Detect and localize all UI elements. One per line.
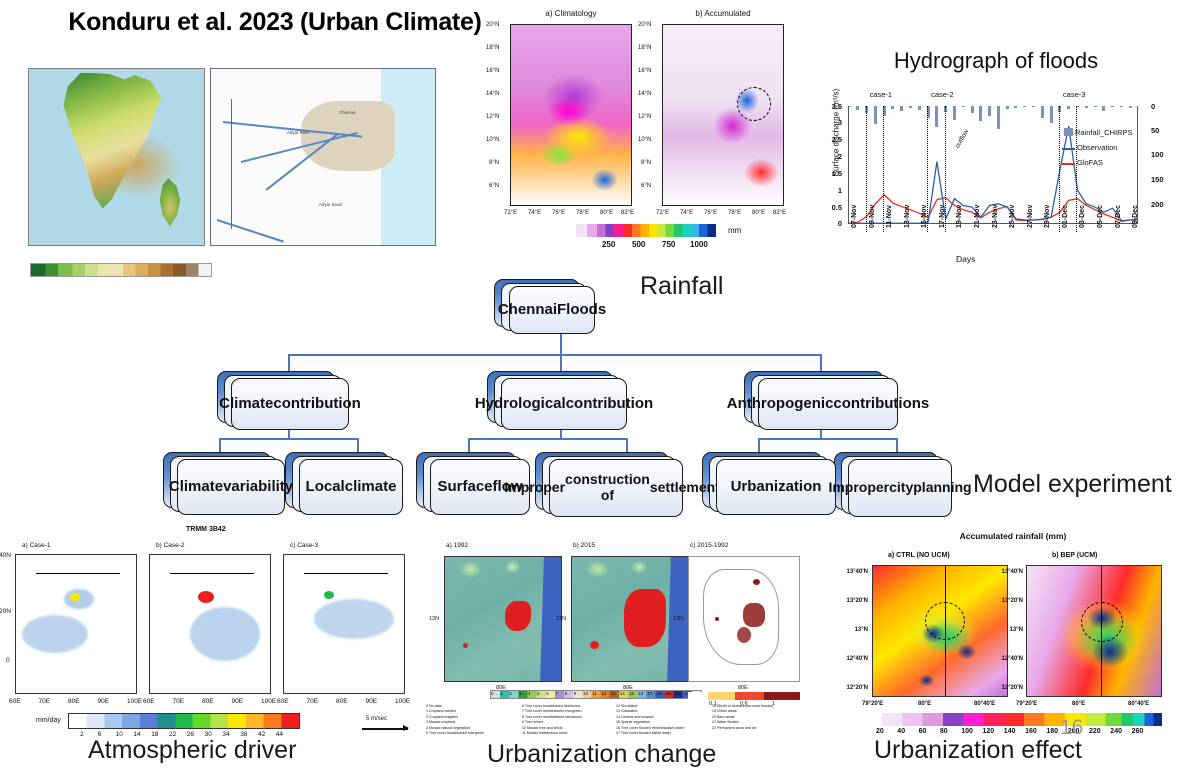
rainfall-colorbar xyxy=(576,224,716,237)
atm-xtick: 100E xyxy=(395,698,410,705)
ue-colorbar-tick: 80 xyxy=(940,728,948,735)
hydrograph-xtick: 09-Dec xyxy=(1132,205,1139,228)
atm-map-case2 xyxy=(149,554,271,694)
slide-number: 16 xyxy=(1060,716,1083,740)
landcover-class-number: 0 xyxy=(491,691,494,696)
atm-map-case1 xyxy=(15,554,137,694)
landcover-class-number: 8 xyxy=(565,691,568,696)
hydrograph-block: Hydrograph of floods Surface discharge (… xyxy=(806,48,1186,268)
basin-label-adyar-river: Adyar River xyxy=(287,130,310,135)
urb-ytick: 13N xyxy=(556,616,566,622)
flow-label-line: Chennai xyxy=(498,302,557,319)
change-cluster xyxy=(737,627,751,643)
hydrograph-ytick: 2 xyxy=(820,152,842,161)
flow-box-improper-construction[interactable]: Improperconstruction ofsettlements xyxy=(549,459,683,517)
landcover-class-number: 15 xyxy=(629,691,634,696)
ue-xtick: 80°40'E xyxy=(1128,701,1149,707)
landcover-class-number: 3 xyxy=(519,691,522,696)
hydrograph-xtick: 07-Nov xyxy=(851,205,858,228)
urban-extent-1992 xyxy=(463,643,468,648)
urb-panel-b-title: b) 2015 xyxy=(573,542,595,549)
legend-label-glofas: GloFAS xyxy=(1077,158,1103,167)
flow-label-line: Improper xyxy=(504,480,565,496)
ue-ytick: 12°40'N xyxy=(828,656,868,662)
landcover-class-number: 2 xyxy=(509,691,512,696)
urb-ytick: 13N xyxy=(429,616,439,622)
atm-panel-a-title: a) Case-1 xyxy=(22,542,51,549)
rainfall-ytick: 18°N xyxy=(638,45,651,51)
landcover-legend-entry: 22 Permanent snow and ice xyxy=(712,726,773,731)
ue-colorbar-tick: 100 xyxy=(961,728,973,735)
atm-xtick: 100E xyxy=(261,698,276,705)
atmospheric-driver-block: TRMM 3B42 a) Case-1 b) Case-2 c) Case-3 … xyxy=(0,530,420,768)
landcover-class-number: 14 xyxy=(620,691,625,696)
ue-xtick: 80°40'E xyxy=(974,701,995,707)
ue-ytick: 12°20'N xyxy=(983,685,1023,691)
case-marker-line xyxy=(1059,106,1060,232)
precip-blob xyxy=(314,599,394,639)
atm-colorbar-tick: 18 xyxy=(151,731,158,738)
urban-extent-2015 xyxy=(590,641,599,649)
atm-xtick: 80E xyxy=(202,698,214,705)
rainfall-ytick: 6°N xyxy=(489,183,499,189)
connector-vertical xyxy=(896,438,898,452)
connector-vertical xyxy=(357,438,359,452)
legend-label-rainfall: Rainfall_CHIRPS xyxy=(1075,128,1133,137)
landcover-class-number: 19 xyxy=(666,691,671,696)
flow-label-line: contribution xyxy=(566,396,653,413)
rainfall-panel-a-title: a) Climatology xyxy=(510,9,632,18)
flow-label-line: Urbanization xyxy=(731,479,822,496)
atm-colorbar-tick: 26 xyxy=(187,731,194,738)
flow-label-line: Surface xyxy=(437,479,492,496)
rainfall-accumulated-map xyxy=(662,24,784,206)
urb-xtick: 80E xyxy=(738,685,748,691)
atm-ytick: 20N xyxy=(0,608,11,615)
rainfall-ytick: 6°N xyxy=(641,183,651,189)
connector-horizontal xyxy=(219,438,359,440)
landcover-legend-entry: 5 Tree cover broadleaved evergreen xyxy=(426,731,484,736)
hydrograph-xtick: 07-Dec xyxy=(1115,205,1122,228)
caption-model-experiment: Model experiment xyxy=(973,470,1172,499)
ue-colorbar-tick: 260 xyxy=(1132,728,1144,735)
case-marker-line xyxy=(1076,106,1077,232)
rainfall-xtick: 76°E xyxy=(552,210,565,216)
basin-boundary xyxy=(231,99,232,229)
ue-colorbar-tick: 120 xyxy=(983,728,995,735)
adyar-basin-map: Chennai Adyar River Adyar basin xyxy=(210,68,436,246)
flow-label-line: Local xyxy=(306,479,345,496)
hydrograph-y2tick: 50 xyxy=(1151,126,1159,135)
landcover-class-number: 1 xyxy=(500,691,503,696)
precip-core xyxy=(70,593,80,601)
ue-xtick: 80°E xyxy=(918,701,931,707)
urban-extent-1992 xyxy=(505,601,531,631)
rainfall-colorbar-tick: 500 xyxy=(632,240,645,249)
flow-label-line: climate xyxy=(345,479,397,496)
atm-xtick: 60E xyxy=(9,698,21,705)
landcover-legend-entry: 11 Mosaic herbaceous cover xyxy=(522,731,582,736)
connector-vertical xyxy=(468,438,470,452)
flow-box-urbanization[interactable]: Urbanization xyxy=(716,459,836,515)
landcover-legend-column: 12 Shrubland13 Grassland14 Lichens and m… xyxy=(616,704,684,737)
hydrograph-xtick: 19-Nov xyxy=(956,205,963,228)
caption-rainfall: Rainfall xyxy=(640,272,723,301)
ue-colorbar-tick: 220 xyxy=(1089,728,1101,735)
atm-xtick: 60E xyxy=(277,698,289,705)
flow-box-improper-city-planning[interactable]: Impropercityplanning xyxy=(848,459,952,517)
atm-xtick: 70E xyxy=(39,698,51,705)
landcover-legend-column: 18 Shrub or herbaceous cover flooded19 U… xyxy=(712,704,773,731)
rainfall-ytick: 14°N xyxy=(638,91,651,97)
hydrograph-xtick: 13-Nov xyxy=(904,205,911,228)
landcover-class-number: 4 xyxy=(528,691,531,696)
landcover-map-2015 xyxy=(571,556,689,682)
landcover-class-number: 9 xyxy=(574,691,577,696)
ue-ytick: 13°40'N xyxy=(983,569,1023,575)
atm-xtick: 90E xyxy=(98,698,110,705)
rainfall-xtick: 74°E xyxy=(528,210,541,216)
rainfall-xtick: 74°E xyxy=(680,210,693,216)
landcover-class-number: 10 xyxy=(583,691,588,696)
rainfall-ytick: 8°N xyxy=(641,160,651,166)
atm-map-case3 xyxy=(283,554,405,694)
rainfall-ytick: 20°N xyxy=(486,22,499,28)
rainfall-ytick: 16°N xyxy=(638,68,651,74)
terrain-island-srilanka xyxy=(155,178,185,227)
flow-label-line: Floods xyxy=(557,302,606,319)
landcover-legend-column: 6 Tree cover broadleaved deciduous7 Tree… xyxy=(522,704,582,737)
atm-xtick: 60E xyxy=(143,698,155,705)
rainfall-xtick: 80°E xyxy=(752,210,765,216)
hydrograph-title: Hydrograph of floods xyxy=(806,48,1186,74)
landcover-class-number: 11 xyxy=(592,691,597,696)
flow-label-line: Hydrological xyxy=(475,396,566,413)
change-cluster xyxy=(743,603,765,627)
atm-colorbar-tick: 30 xyxy=(205,731,212,738)
ue-ytick: 13°20'N xyxy=(983,598,1023,604)
hydrograph-xtick: 05-Dec xyxy=(1097,205,1104,228)
atm-colorbar-unit: mm/day xyxy=(36,717,61,724)
atm-colorbar-tick: 34 xyxy=(222,731,229,738)
hydrograph-xtick: 17-Nov xyxy=(939,205,946,228)
atm-xtick: 80E xyxy=(68,698,80,705)
case-marker-label: case-3 xyxy=(1063,90,1086,99)
rainfall-ytick: 10°N xyxy=(486,137,499,143)
ue-ytick: 12°40'N xyxy=(983,656,1023,662)
hydrograph-xtick: 01-Dec xyxy=(1062,205,1069,228)
ue-colorbar-tick: 140 xyxy=(1004,728,1016,735)
hydrograph-ytick: 1.5 xyxy=(820,169,842,178)
landcover-class-number: 6 xyxy=(546,691,549,696)
rainfall-ytick: 14°N xyxy=(486,91,499,97)
landcover-class-number: 5 xyxy=(537,691,540,696)
rainfall-xtick: 72°E xyxy=(656,210,669,216)
urban-extent-2015 xyxy=(624,589,666,647)
flow-label-line: construction of xyxy=(565,472,650,503)
rainfall-ytick: 12°N xyxy=(638,114,651,120)
urbanization-effect-block: Accumulated rainfall (mm) a) CTRL (NO UC… xyxy=(840,525,1186,768)
hydrograph-y2tick: 100 xyxy=(1151,150,1164,159)
atm-ytick: 40N xyxy=(0,552,11,559)
ue-colorbar-tick: 40 xyxy=(897,728,905,735)
legend-swatch-glofas xyxy=(1062,163,1075,165)
south-india-terrain-map xyxy=(28,68,205,246)
rainfall-colorbar-unit: mm xyxy=(728,226,741,235)
atm-ytick: 0 xyxy=(6,657,10,664)
atm-colorbar-tick: 14 xyxy=(133,731,140,738)
flow-box-hydrological-contribution[interactable]: Hydrologicalcontribution xyxy=(501,378,627,430)
connector-horizontal xyxy=(758,438,898,440)
flow-label-line: contributions xyxy=(833,396,929,413)
flow-box-local-climate[interactable]: Localclimate xyxy=(299,459,403,515)
hydrograph-xtick: 23-Nov xyxy=(992,205,999,228)
connector-vertical xyxy=(626,438,628,452)
ue-colorbar-tick: 60 xyxy=(919,728,927,735)
flow-label-line: Climate xyxy=(169,479,223,496)
atm-xtick: 90E xyxy=(232,698,244,705)
ue-ytick: 12°20'N xyxy=(828,685,868,691)
hydrograph-ytick: 0 xyxy=(820,219,842,228)
rainfall-ytick: 18°N xyxy=(486,45,499,51)
hydrograph-ytick: 3.5 xyxy=(820,102,842,111)
landcover-legend-entry: 17 Tree cover flooded saline water xyxy=(616,731,684,736)
hydrograph-xtick: 11-Nov xyxy=(886,205,893,228)
coastline xyxy=(304,573,388,574)
flow-label-line: planning xyxy=(913,480,971,496)
hydrograph-xtick: 27-Nov xyxy=(1027,205,1034,228)
hydrograph-xtick: 29-Nov xyxy=(1044,205,1051,228)
ue-panel-a-title: a) CTRL (NO UCM) xyxy=(888,552,950,559)
ue-ytick: 13°20'N xyxy=(828,598,868,604)
ue-xtick: 79°20'E xyxy=(862,701,883,707)
landcover-class-number: 13 xyxy=(611,691,616,696)
legend-label-observation: Observation xyxy=(1077,143,1117,152)
rainfall-panel-b-title: b) Accumulated xyxy=(662,9,784,18)
atm-colorbar-tick: 6 xyxy=(98,731,102,738)
rainfall-climatology-map xyxy=(510,24,632,206)
wind-vector-arrow-icon xyxy=(362,728,408,730)
atm-xtick: 80E xyxy=(336,698,348,705)
hydrograph-xtick: 21-Nov xyxy=(974,205,981,228)
urbanization-change-block: a) 1992 b) 2015 c) 2015-1992 13N 13N 13N… xyxy=(420,530,840,768)
rainfall-xtick: 72°E xyxy=(504,210,517,216)
ue-colorbar-tick: 180 xyxy=(1046,728,1058,735)
rainfall-ytick: 10°N xyxy=(638,137,651,143)
flow-label-line: Climate xyxy=(219,396,273,413)
urb-ytick: 13N xyxy=(673,616,683,622)
rainfall-ytick: 12°N xyxy=(486,114,499,120)
accumulated-rainfall-colorbar xyxy=(872,713,1162,726)
rainfall-maps-block: a) Climatology b) Accumulated 20°N 18°N … xyxy=(466,2,806,260)
ue-ytick: 13°N xyxy=(828,627,868,633)
flow-label-line: Anthropogenic xyxy=(727,396,834,413)
hydrograph-xtick: 25-Nov xyxy=(1009,205,1016,228)
case-marker-label: case-2 xyxy=(931,90,954,99)
precip-core xyxy=(324,591,334,599)
page-title: Konduru et al. 2023 (Urban Climate) xyxy=(55,8,495,37)
rainfall-xtick: 78°E xyxy=(576,210,589,216)
atm-colorbar-tick: 10 xyxy=(116,731,123,738)
atm-colorbar-tick: 42 xyxy=(258,731,265,738)
hydrograph-y2tick: 150 xyxy=(1151,175,1164,184)
case-marker-label: case-1 xyxy=(870,90,893,99)
rainfall-xtick: 80°E xyxy=(600,210,613,216)
coastline xyxy=(170,573,254,574)
hydrograph-y2tick: 200 xyxy=(1151,200,1164,209)
hydrograph-xlabel: Days xyxy=(956,254,975,264)
ue-xtick: 80°E xyxy=(1072,701,1085,707)
change-cluster xyxy=(715,617,719,621)
rainfall-ytick: 16°N xyxy=(486,68,499,74)
atm-xtick: 70E xyxy=(173,698,185,705)
atm-xtick: 100E xyxy=(127,698,142,705)
landcover-class-number: 20 xyxy=(675,691,680,696)
rainfall-xtick: 78°E xyxy=(728,210,741,216)
city-outline-circle xyxy=(925,602,965,640)
atm-colorbar-tick: 22 xyxy=(169,731,176,738)
flow-box-chennai-floods[interactable]: ChennaiFloods xyxy=(509,286,595,334)
landcover-map-1992 xyxy=(444,556,562,682)
urbanization-difference-map xyxy=(688,556,800,682)
landcover-legend-column: 0 No data1 Cropland rainfed2 Cropland ir… xyxy=(426,704,484,737)
case-marker-line xyxy=(866,106,867,232)
study-region-circle xyxy=(737,87,771,121)
difference-colorbar-tick: 0.1 xyxy=(709,701,717,707)
hydrograph-xtick: 03-Dec xyxy=(1079,205,1086,228)
landcover-class-number: 16 xyxy=(638,691,643,696)
flow-label-line: contribution xyxy=(273,396,360,413)
urb-panel-a-title: a) 1992 xyxy=(446,542,468,549)
hydrograph-ylabel: Surface discharge (m³/s) xyxy=(832,68,841,198)
rainfall-colorbar-tick: 1000 xyxy=(690,240,708,249)
hydrograph-xtick: 15-Nov xyxy=(921,205,928,228)
connector-vertical xyxy=(758,438,760,452)
connector-horizontal xyxy=(468,438,628,440)
landcover-class-number: 12 xyxy=(601,691,606,696)
change-cluster xyxy=(753,579,760,585)
hydrograph-ytick: 2.5 xyxy=(820,135,842,144)
urb-panel-c-title: c) 2015-1992 xyxy=(690,542,728,549)
hydrograph-y2tick: 0 xyxy=(1151,102,1155,111)
flow-label-line: city xyxy=(889,480,913,496)
flow-label-line: variability xyxy=(223,479,293,496)
ue-ytick: 13°N xyxy=(983,627,1023,633)
precip-blob xyxy=(22,615,88,653)
rainfall-bar xyxy=(1138,106,1139,107)
coastline xyxy=(36,573,120,574)
rainfall-ytick: 8°N xyxy=(489,160,499,166)
atm-xtick: 90E xyxy=(366,698,378,705)
ue-colorbar-tick: 20 xyxy=(876,728,884,735)
rainfall-colorbar-tick: 250 xyxy=(602,240,615,249)
atm-colorbar-tick: 38 xyxy=(240,731,247,738)
connector-vertical xyxy=(560,332,562,354)
difference-colorbar-tick: 0.6 xyxy=(740,701,748,707)
rainfall-xtick: 82°E xyxy=(621,210,634,216)
atm-colorbar xyxy=(68,713,300,729)
river-line xyxy=(217,219,284,242)
hydrograph-ytick: 3 xyxy=(820,118,842,127)
landcover-class-number: 7 xyxy=(555,691,558,696)
atm-colorbar-tick: 2 xyxy=(80,731,84,738)
landcover-class-number: 18 xyxy=(657,691,662,696)
flow-box-climate-contribution[interactable]: Climatecontribution xyxy=(231,378,349,430)
trmm-source-label: TRMM 3B42 xyxy=(186,526,226,533)
hydrograph-xtick: 09-Nov xyxy=(869,205,876,228)
atm-colorbar-tick: 44 xyxy=(276,731,283,738)
atm-xtick: 70E xyxy=(307,698,319,705)
connector-horizontal xyxy=(288,354,822,356)
rainfall-xtick: 76°E xyxy=(704,210,717,216)
case-marker-line xyxy=(883,106,884,232)
atm-panel-b-title: b) Case-2 xyxy=(156,542,185,549)
rainfall-xtick: 82°E xyxy=(773,210,786,216)
rainfall-colorbar-tick: 750 xyxy=(662,240,675,249)
difference-colorbar xyxy=(688,692,800,700)
precip-core xyxy=(198,591,214,603)
connector-vertical xyxy=(219,438,221,452)
atm-panel-c-title: c) Case-3 xyxy=(290,542,318,549)
flow-label-line: Improper xyxy=(828,480,889,496)
ue-panel-b-title: b) BEP (UCM) xyxy=(1052,552,1097,559)
ue-colorbar-tick: 160 xyxy=(1025,728,1037,735)
hydrograph-ytick: 0.5 xyxy=(820,203,842,212)
precip-blob xyxy=(190,607,260,661)
ue-xtick: 79°20'E xyxy=(1016,701,1037,707)
flow-box-anthropogenic-contributions[interactable]: Anthropogeniccontributions xyxy=(758,378,898,430)
rainfall-ytick: 20°N xyxy=(638,22,651,28)
terrain-landmass xyxy=(57,73,166,210)
ue-ytick: 13°40'N xyxy=(828,569,868,575)
hydrograph-ytick: 1 xyxy=(820,186,842,195)
basin-label-chennai: Chennai xyxy=(339,110,355,115)
basin-label-adyar-basin: Adyar basin xyxy=(319,202,342,207)
landcover-class-number: 17 xyxy=(647,691,652,696)
city-outline-circle xyxy=(1081,602,1123,642)
ue-colorbar-tick: 240 xyxy=(1110,728,1122,735)
legend-swatch-rainfall xyxy=(1064,128,1073,136)
bep-ucm-map xyxy=(1026,565,1162,697)
legend-swatch-observation xyxy=(1062,148,1075,150)
wind-vector-scale-label: 5 m/sec xyxy=(366,716,387,722)
flow-box-climate-variability[interactable]: Climatevariability xyxy=(177,459,285,515)
accumulated-rainfall-header: Accumulated rainfall (mm) xyxy=(840,531,1186,541)
difference-colorbar-tick: 1 xyxy=(772,701,775,707)
